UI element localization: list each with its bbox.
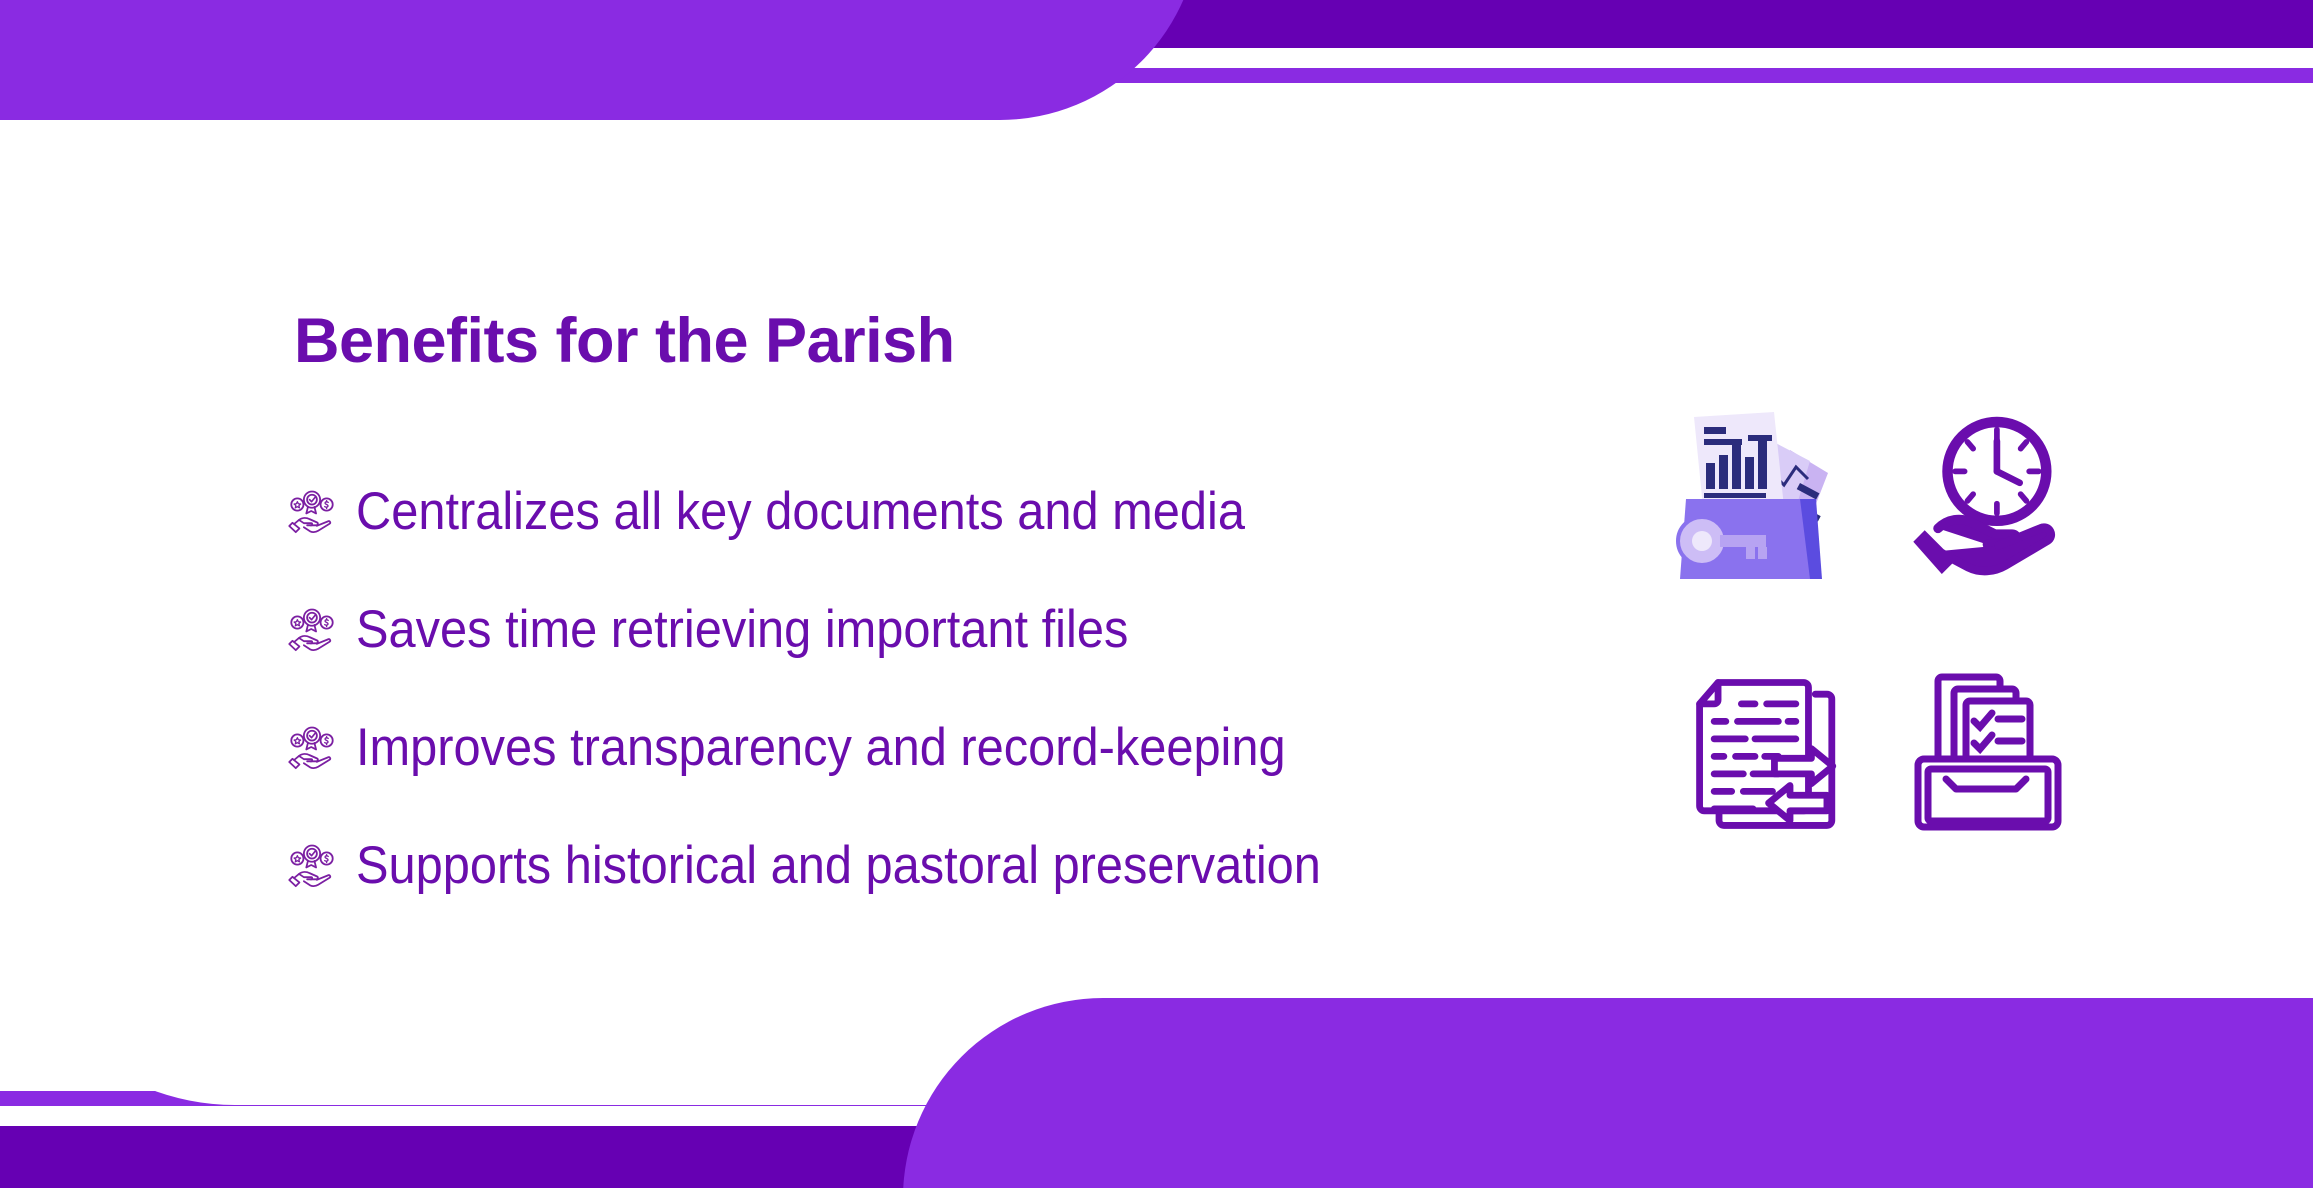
document-exchange-arrows-icon (1685, 665, 1860, 840)
list-item: Improves transparency and record-keeping (286, 688, 1546, 806)
benefits-hand-badges-icon (286, 485, 338, 537)
slide-canvas: Benefits for the Parish (0, 0, 2313, 1188)
list-item: Centralizes all key documents and media (286, 452, 1546, 570)
list-item: Supports historical and pastoral preserv… (286, 806, 1546, 924)
page-title: Benefits for the Parish (294, 305, 955, 377)
list-item-label: Supports historical and pastoral preserv… (356, 839, 1321, 892)
benefits-hand-badges-icon (286, 721, 338, 773)
illustration-cluster (1630, 395, 2140, 885)
list-item-label: Centralizes all key documents and media (356, 485, 1245, 538)
list-item-label: Saves time retrieving important files (356, 603, 1128, 656)
slide-content: Benefits for the Parish (0, 0, 2313, 1188)
list-item-label: Improves transparency and record-keeping (356, 721, 1286, 774)
benefits-list: Centralizes all key documents and media (286, 452, 1546, 924)
clock-on-hand-icon (1900, 403, 2090, 593)
folder-documents-key-icon (1650, 395, 1850, 595)
benefits-hand-badges-icon (286, 603, 338, 655)
benefits-hand-badges-icon (286, 839, 338, 891)
list-item: Saves time retrieving important files (286, 570, 1546, 688)
filing-tray-checklist-icon (1910, 663, 2090, 843)
